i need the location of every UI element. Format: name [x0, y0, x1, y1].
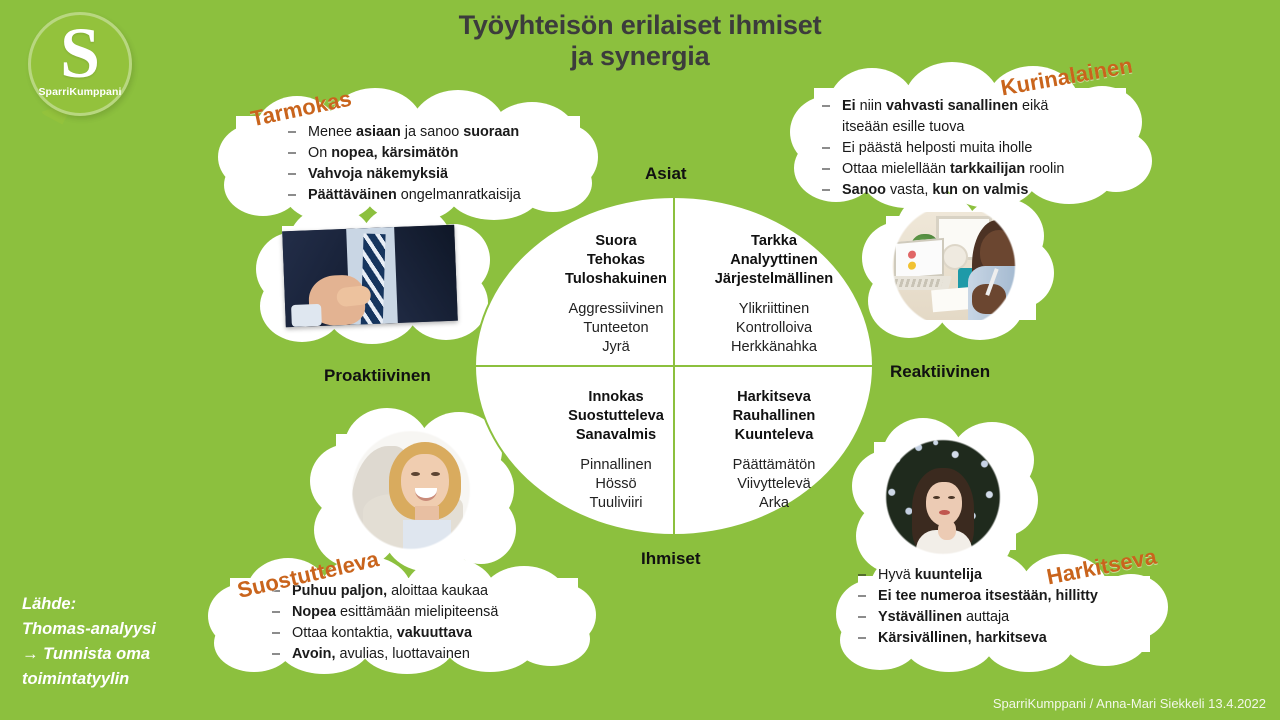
bullet-text: Ei päästä helposti muita iholle: [842, 138, 1032, 159]
bullet-item: –On nopea, kärsimätön: [288, 143, 521, 164]
bullet-text: Avoin, avulias, luottavainen: [292, 644, 470, 665]
eye-left: [933, 496, 940, 499]
bullet-dash: [822, 117, 833, 138]
bullet-dash: –: [272, 602, 283, 623]
cloud-lump: [1080, 130, 1152, 192]
callout-bullets-suostutteleva: –Puhuu paljon, aloittaa kaukaa–Nopea esi…: [272, 581, 498, 665]
bullet-item: – Sanoo vasta, kun on valmis: [822, 180, 1064, 201]
bullet-dash: –: [288, 122, 299, 143]
bullet-dash: –: [272, 623, 283, 644]
pointing-man-photo: [282, 225, 458, 328]
quadrant-horizontal-divider: [474, 365, 874, 367]
axis-label-right: Reaktiivinen: [890, 362, 990, 382]
striped-tie: [361, 234, 386, 327]
eye-right: [431, 472, 440, 476]
laptop: [888, 240, 950, 292]
bullet-item: –Kärsivällinen, harkitseva: [858, 628, 1098, 649]
quadrant-top-right: TarkkaAnalyyttinenJärjestelmällinen Ylik…: [679, 232, 869, 357]
desk-worker-photo: [884, 212, 1024, 320]
bullet-text: On nopea, kärsimätön: [308, 143, 458, 164]
bullet-dash: –: [858, 607, 869, 628]
bullet-text: Ei niin vahvasti sanallinen eikä: [842, 96, 1048, 117]
source-line-3: → Tunnista oma: [22, 642, 156, 667]
bullet-text: Hyvä kuuntelija: [878, 565, 982, 586]
bullet-text: Kärsivällinen, harkitseva: [878, 628, 1047, 649]
bullet-item: –Nopea esittämään mielipiteensä: [272, 602, 498, 623]
bullet-dash: –: [858, 565, 869, 586]
bullet-item: –Avoin, avulias, luottavainen: [272, 644, 498, 665]
cloud-lump: [514, 154, 592, 212]
bullet-dash: –: [858, 586, 869, 607]
bullet-dash: –: [288, 143, 299, 164]
callout-bullets-tarmokas: –Menee asiaan ja sanoo suoraan–On nopea,…: [288, 122, 521, 206]
bullet-dash: –: [822, 159, 833, 180]
bullet-dash: –: [858, 628, 869, 649]
laptop-keyboard: [893, 279, 943, 287]
bullet-list: –Menee asiaan ja sanoo suoraan–On nopea,…: [288, 122, 521, 206]
bullet-item: –Ei päästä helposti muita iholle: [822, 138, 1064, 159]
bullet-text: Päättäväinen ongelmanratkaisija: [308, 185, 521, 206]
bullet-item: –Ei tee numeroa itsestään, hillitty: [858, 586, 1098, 607]
bullet-item: –Vahvoja näkemyksiä: [288, 164, 521, 185]
bullet-text: Ei tee numeroa itsestään, hillitty: [878, 586, 1098, 607]
screen-dot-red: [908, 250, 916, 259]
bullet-text: Sanoo vasta, kun on valmis: [842, 180, 1028, 201]
bullet-item: itseään esille tuova: [822, 117, 1064, 138]
bullet-text: Nopea esittämään mielipiteensä: [292, 602, 498, 623]
slide-canvas: S SparriKumppani Työyhteisön erilaiset i…: [0, 0, 1280, 720]
bullet-item: –Ystävällinen auttaja: [858, 607, 1098, 628]
bullet-text: itseään esille tuova: [842, 117, 964, 138]
source-note: Lähde: Thomas-analyysi → Tunnista oma to…: [22, 592, 156, 692]
callout-bullets-kurinalainen: –Ei niin vahvasti sanallinen eikäitseään…: [822, 96, 1064, 201]
axis-label-left: Proaktiivinen: [324, 366, 431, 386]
eye-left: [411, 472, 420, 476]
quadrant-strong-traits: TarkkaAnalyyttinenJärjestelmällinen: [679, 232, 869, 289]
bullet-dash: –: [822, 138, 833, 159]
logo-wordmark: SparriKumppani: [18, 86, 142, 98]
cloud-lump: [512, 612, 590, 666]
quadrant-weak-traits: PäättämätönViivytteleväArka: [679, 456, 869, 513]
source-line-4: toimintatyylin: [22, 667, 156, 692]
bullet-text: Menee asiaan ja sanoo suoraan: [308, 122, 519, 143]
footer-credit: SparriKumppani / Anna-Mari Siekkeli 13.4…: [993, 696, 1266, 711]
quadrant-weak-traits: YlikriittinenKontrolloivaHerkkänahka: [679, 300, 869, 357]
bullet-dash: –: [822, 180, 833, 201]
face: [401, 454, 449, 510]
bullet-list: –Ei niin vahvasti sanallinen eikäitseään…: [822, 96, 1064, 201]
collar-shirt: [403, 520, 451, 552]
young-woman-photo: [882, 438, 1004, 556]
bullet-dash: –: [288, 164, 299, 185]
quadrant-strong-traits: HarkitsevaRauhallinenKuunteleva: [679, 388, 869, 445]
bullet-dash: –: [272, 644, 283, 665]
screen-dot-yellow: [908, 261, 916, 270]
smiling-woman-photo: [345, 428, 477, 552]
bullet-item: –Päättäväinen ongelmanratkaisija: [288, 185, 521, 206]
eye-right: [948, 496, 955, 499]
bullet-text: Ottaa kontaktia, vakuuttava: [292, 623, 472, 644]
shirt-cuff: [291, 304, 322, 327]
source-line-1: Lähde:: [22, 592, 156, 617]
bullet-dash: –: [822, 96, 833, 117]
bullet-item: –Menee asiaan ja sanoo suoraan: [288, 122, 521, 143]
axis-label-bottom: Ihmiset: [641, 549, 701, 569]
bullet-dash: –: [288, 185, 299, 206]
axis-label-top: Asiat: [645, 164, 687, 184]
bullet-text: Ottaa mielellään tarkkailijan roolin: [842, 159, 1064, 180]
quadrant-bottom-right: HarkitsevaRauhallinenKuunteleva Päättämä…: [679, 388, 869, 513]
bullet-item: –Ei niin vahvasti sanallinen eikä: [822, 96, 1064, 117]
bullet-text: Vahvoja näkemyksiä: [308, 164, 448, 185]
lips: [939, 510, 950, 515]
bullet-item: –Ottaa mielellään tarkkailijan roolin: [822, 159, 1064, 180]
bullet-text: Ystävällinen auttaja: [878, 607, 1009, 628]
bullet-item: –Ottaa kontaktia, vakuuttava: [272, 623, 498, 644]
source-line-2: Thomas-analyysi: [22, 617, 156, 642]
laptop-screen: [894, 238, 944, 280]
bullet-list: –Puhuu paljon, aloittaa kaukaa–Nopea esi…: [272, 581, 498, 665]
hand-on-chin: [938, 520, 956, 540]
title-line-1: Työyhteisön erilaiset ihmiset: [0, 10, 1280, 41]
